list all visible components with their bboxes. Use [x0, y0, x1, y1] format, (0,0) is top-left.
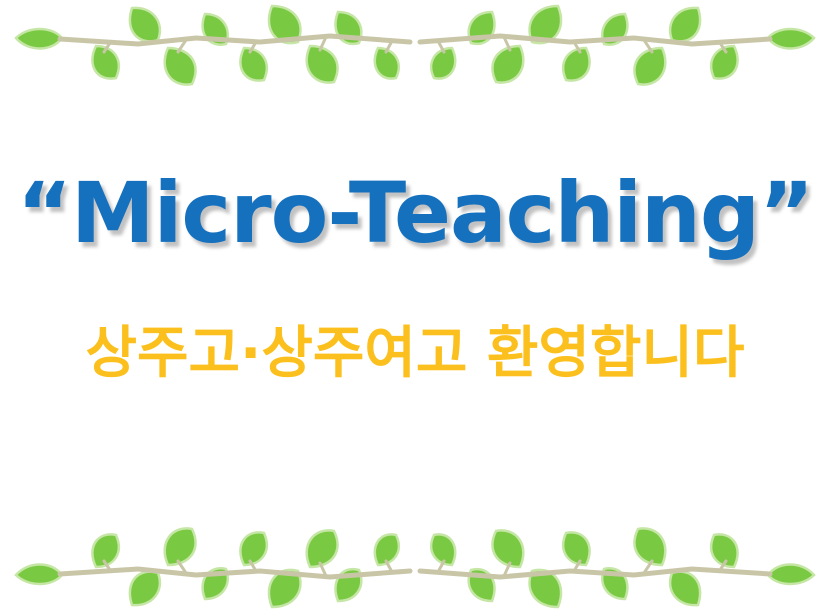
- vine-branch-icon: [415, 0, 830, 100]
- subtitle-block: 상주고·상주여고 환영합니다: [0, 322, 830, 386]
- page-subtitle: 상주고·상주여고 환영합니다: [0, 322, 830, 386]
- page-title: “Micro-Teaching”: [0, 168, 830, 259]
- vine-branch-icon: [415, 513, 830, 613]
- vine-branch-left: [0, 513, 415, 613]
- vine-branch-icon: [0, 0, 415, 100]
- presentation-slide: “Micro-Teaching” 상주고·상주여고 환영합니다: [0, 0, 830, 613]
- vine-branch-right: [415, 0, 830, 100]
- leafy-branch-bottom-border: [0, 513, 830, 613]
- leafy-branch-top-border: [0, 0, 830, 100]
- vine-branch-right: [415, 513, 830, 613]
- vine-branch-icon: [0, 513, 415, 613]
- title-block: “Micro-Teaching”: [0, 168, 830, 259]
- vine-branch-left: [0, 0, 415, 100]
